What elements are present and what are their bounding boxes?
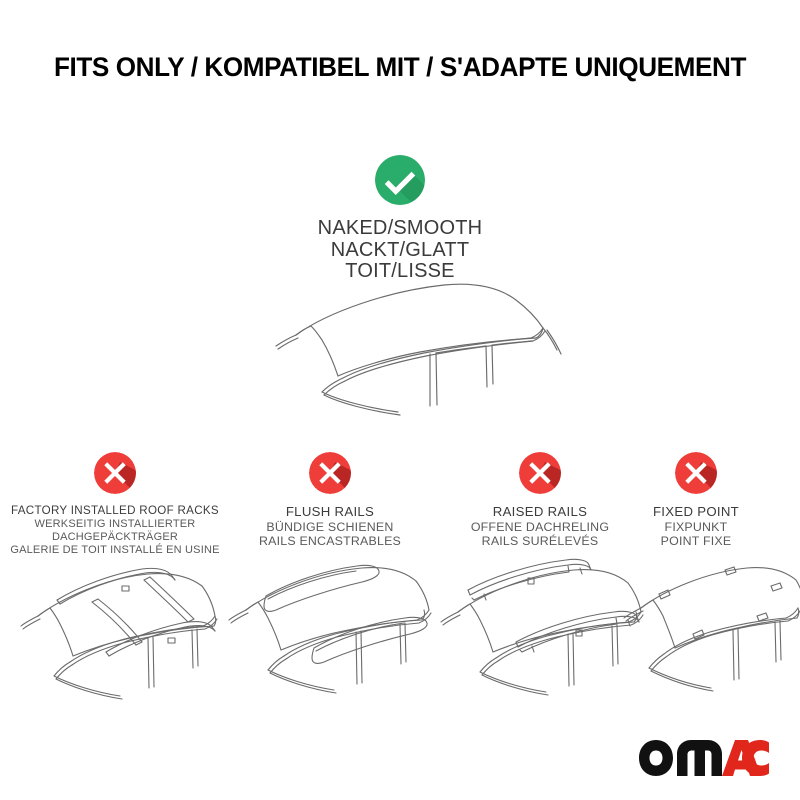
rejected-label-fixed-point: FIXED POINT FIXPUNKT POINT FIXE — [653, 504, 739, 549]
approved-label-line-1: NAKED/SMOOTH — [318, 218, 483, 240]
rejected-label-line-3: RAILS ENCASTRABLES — [259, 534, 401, 549]
rejected-roof-type-block-factory-installed-roof-racks: FACTORY INSTALLED ROOF RACKS WERKSEITIG … — [0, 452, 230, 557]
rejected-roof-type-block-fixed-point: FIXED POINT FIXPUNKT POINT FIXE — [600, 452, 792, 549]
omac-logo — [638, 738, 770, 778]
check-circle-icon — [375, 155, 425, 205]
x-circle-icon — [94, 452, 136, 494]
rejected-label-line-3: POINT FIXE — [653, 534, 739, 549]
page-title: FITS ONLY / KOMPATIBEL MIT / S'ADAPTE UN… — [6, 52, 794, 83]
rejected-label-line-3: RAILS SURÉLEVÉS — [471, 534, 609, 549]
x-circle-icon — [309, 452, 351, 494]
car-roof-naked-smooth-illustration — [248, 272, 578, 422]
rejected-label-line-2: WERKSEITIG INSTALLIERTER — [10, 518, 219, 531]
rejected-label-line-2: OFFENE DACHRELING — [471, 520, 609, 535]
rejected-label-line-2: FIXPUNKT — [653, 520, 739, 535]
rejected-label-line-2: BÜNDIGE SCHIENEN — [259, 520, 401, 535]
x-circle-icon — [675, 452, 717, 494]
approved-label-line-2: NACKT/GLATT — [318, 240, 483, 262]
rejected-label-flush-rails: FLUSH RAILS BÜNDIGE SCHIENEN RAILS ENCAS… — [259, 504, 401, 549]
car-roof-factory-installed-roof-racks-illustration — [2, 548, 232, 713]
rejected-label-line-1: FIXED POINT — [653, 504, 739, 520]
rejected-label-raised-rails: RAISED RAILS OFFENE DACHRELING RAILS SUR… — [471, 504, 609, 549]
rejected-label-line-3: DACHGEPÄCKTRÄGER — [10, 531, 219, 544]
x-circle-icon — [519, 452, 561, 494]
rejected-roof-type-block-flush-rails: FLUSH RAILS BÜNDIGE SCHIENEN RAILS ENCAS… — [218, 452, 442, 549]
rejected-label-line-1: RAISED RAILS — [471, 504, 609, 520]
approved-roof-type-block: NAKED/SMOOTH NACKT/GLATT TOIT/LISSE — [0, 155, 800, 283]
rejected-label-line-1: FLUSH RAILS — [259, 504, 401, 520]
car-roof-fixed-point-illustration — [615, 548, 800, 713]
car-roof-flush-rails-illustration — [214, 548, 444, 713]
rejected-label-line-1: FACTORY INSTALLED ROOF RACKS — [10, 504, 219, 518]
